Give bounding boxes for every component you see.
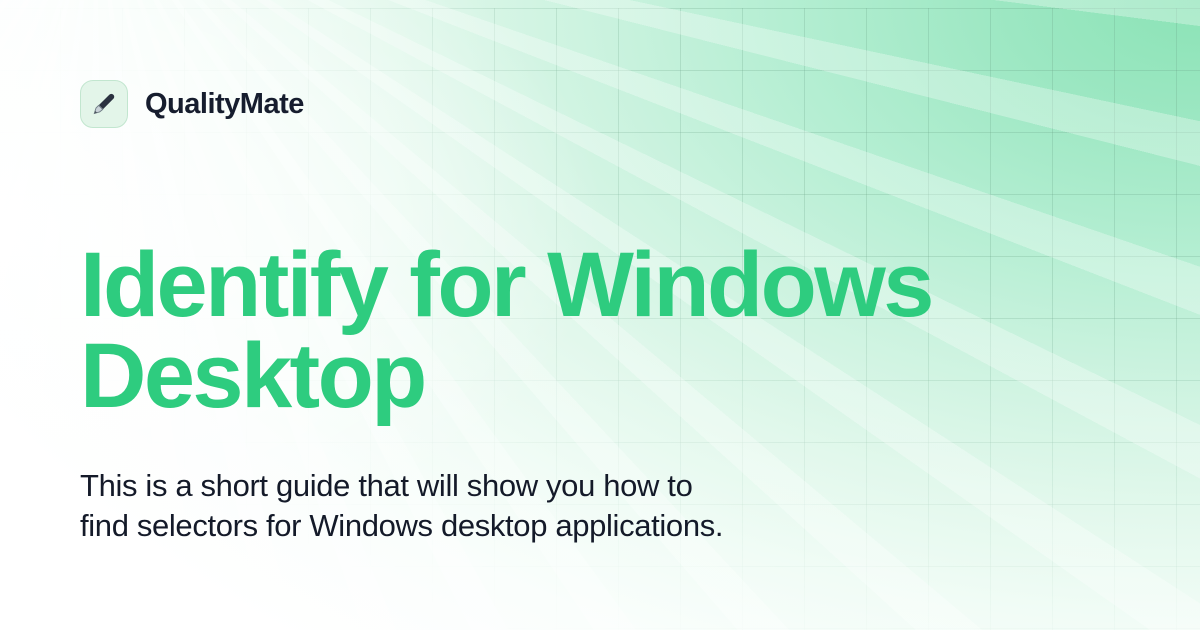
page-subtitle-line-2: find selectors for Windows desktop appli… [80, 506, 723, 546]
og-card: QualityMate Identify for Windows Desktop… [0, 0, 1200, 630]
pen-marker-icon [80, 80, 128, 128]
brand-lockup: QualityMate [80, 78, 1120, 130]
brand-name: QualityMate [145, 90, 304, 119]
page-subtitle: This is a short guide that will show you… [80, 466, 723, 547]
page-title: Identify for Windows Desktop [80, 240, 980, 422]
page-subtitle-line-1: This is a short guide that will show you… [80, 466, 723, 506]
card-content: QualityMate Identify for Windows Desktop… [0, 0, 1200, 630]
